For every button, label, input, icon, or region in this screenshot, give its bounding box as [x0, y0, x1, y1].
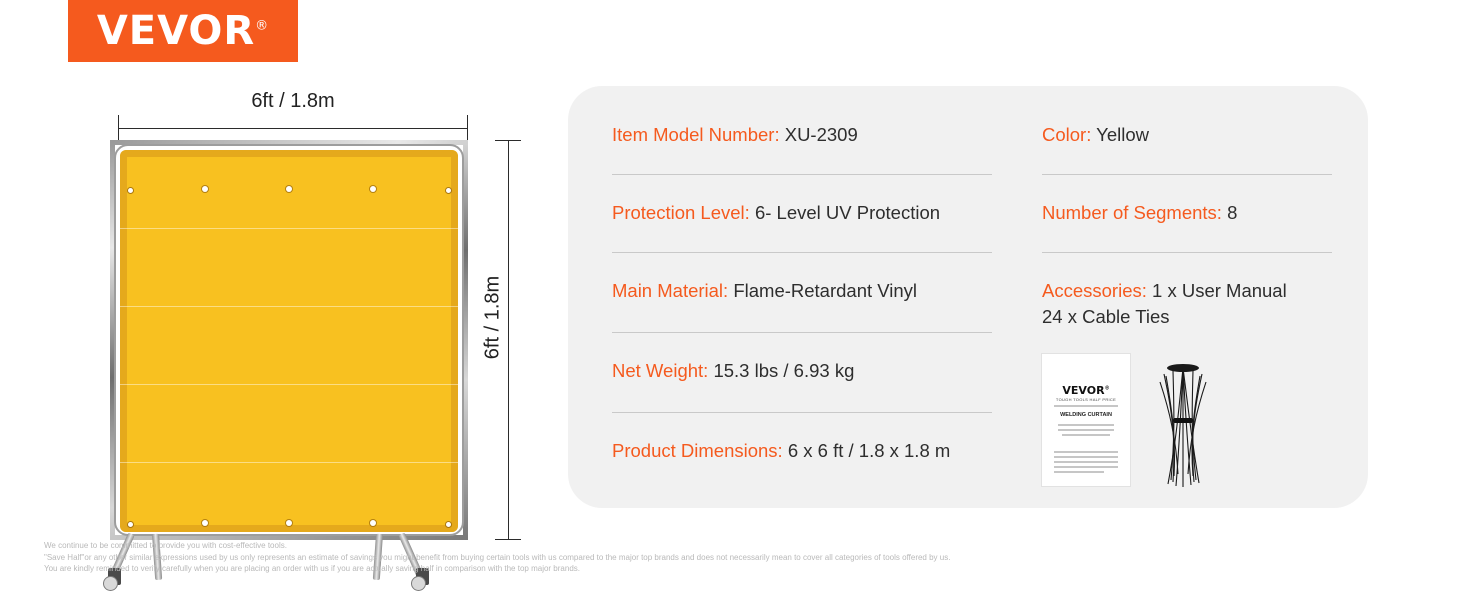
spec-text: Product Dimensions: 6 x 6 ft / 1.8 x 1.8… — [612, 438, 992, 464]
vevor-logo: VEVOR® — [68, 0, 298, 62]
spec-value: Yellow — [1096, 124, 1149, 145]
spec-divider — [612, 412, 992, 413]
registered-trademark-icon: ® — [255, 19, 269, 34]
manual-title: WELDING CURTAIN — [1042, 412, 1130, 418]
spec-label: Color: — [1042, 124, 1091, 145]
spec-text: Color: Yellow — [1042, 122, 1332, 148]
logo-wordmark: VEVOR® — [97, 11, 269, 51]
disclaimer-line-3: You are kindly reminded to verify carefu… — [44, 563, 1164, 575]
manual-text-line — [1054, 451, 1118, 453]
product-illustration: 6ft / 1.8m 6ft / 1.8m — [80, 82, 510, 532]
spec-text: Net Weight: 15.3 lbs / 6.93 kg — [612, 358, 992, 384]
spec-row: Product Dimensions: 6 x 6 ft / 1.8 x 1.8… — [612, 438, 992, 464]
spec-label: Item Model Number: — [612, 124, 780, 145]
spec-label: Accessories: — [1042, 280, 1147, 301]
manual-registered-icon: ® — [1105, 385, 1110, 391]
spec-value: 1 x User Manual — [1152, 280, 1287, 301]
height-tick-top — [495, 140, 521, 141]
spec-label: Number of Segments: — [1042, 202, 1222, 223]
manual-text-line — [1054, 405, 1118, 407]
grommet — [202, 520, 208, 526]
spec-row: Item Model Number: XU-2309 — [612, 122, 992, 148]
spec-value: 6- Level UV Protection — [755, 202, 940, 223]
manual-text-line — [1054, 466, 1118, 468]
curtain-seam — [120, 462, 458, 463]
grommet — [202, 186, 208, 192]
user-manual-thumbnail: VEVOR® TOUGH TOOLS HALF PRICE WELDING CU… — [1042, 354, 1130, 486]
spec-text: Number of Segments: 8 — [1042, 200, 1332, 226]
welding-curtain-panel — [120, 150, 458, 532]
manual-tagline: TOUGH TOOLS HALF PRICE — [1042, 397, 1130, 402]
manual-text-line — [1062, 434, 1110, 436]
spec-row: Net Weight: 15.3 lbs / 6.93 kg — [612, 358, 992, 384]
width-dimension-label: 6ft / 1.8m — [118, 90, 468, 113]
height-dimension-line — [508, 140, 509, 540]
specification-panel: Item Model Number: XU-2309 Protection Le… — [568, 86, 1368, 508]
spec-label: Product Dimensions: — [612, 440, 783, 461]
width-tick-right — [467, 115, 468, 141]
width-dimension-line — [118, 128, 468, 129]
manual-brand-text: VEVOR® — [1042, 384, 1130, 397]
accessory-thumbnails: VEVOR® TOUGH TOOLS HALF PRICE WELDING CU… — [1042, 354, 1262, 504]
spec-text: Main Material: Flame-Retardant Vinyl — [612, 278, 992, 304]
spec-divider — [1042, 174, 1332, 175]
spec-text: Item Model Number: XU-2309 — [612, 122, 992, 148]
spec-divider — [612, 174, 992, 175]
spec-label: Net Weight: — [612, 360, 708, 381]
manual-text-line — [1058, 424, 1114, 426]
disclaimer-line-1: We continue to be committed to provide y… — [44, 540, 1164, 552]
width-dimension: 6ft / 1.8m — [118, 90, 468, 136]
manual-text-line — [1054, 456, 1118, 458]
grommet — [286, 186, 292, 192]
grommet — [128, 188, 133, 193]
spec-divider — [1042, 252, 1332, 253]
spec-value: 8 — [1227, 202, 1237, 223]
spec-text: Protection Level: 6- Level UV Protection — [612, 200, 992, 226]
grommet — [286, 520, 292, 526]
spec-text: Accessories: 1 x User Manual — [1042, 278, 1332, 304]
spec-value: XU-2309 — [785, 124, 858, 145]
spec-divider — [612, 252, 992, 253]
grommet — [128, 522, 133, 527]
spec-row: Protection Level: 6- Level UV Protection — [612, 200, 992, 226]
spec-row: Main Material: Flame-Retardant Vinyl — [612, 278, 992, 304]
spec-value-line2: 24 x Cable Ties — [1042, 304, 1332, 330]
spec-row: Number of Segments: 8 — [1042, 200, 1332, 226]
spec-row: Accessories: 1 x User Manual 24 x Cable … — [1042, 278, 1332, 330]
width-tick-left — [118, 115, 119, 141]
spec-divider — [612, 332, 992, 333]
cable-ties-icon — [1146, 356, 1220, 490]
curtain-seam — [120, 228, 458, 229]
spec-value: 15.3 lbs / 6.93 kg — [713, 360, 854, 381]
disclaimer-line-2: "Save Half"or any other similar expressi… — [44, 552, 1164, 564]
height-dimension: 6ft / 1.8m — [470, 140, 516, 540]
logo-brand-text: VEVOR — [97, 8, 255, 54]
curtain-seam — [120, 306, 458, 307]
grommet — [446, 188, 451, 193]
grommet — [370, 186, 376, 192]
spec-label: Protection Level: — [612, 202, 750, 223]
spec-row: Color: Yellow — [1042, 122, 1332, 148]
spec-value: 6 x 6 ft / 1.8 x 1.8 m — [788, 440, 950, 461]
manual-text-line — [1054, 461, 1118, 463]
manual-text-line — [1054, 471, 1104, 473]
manual-text-line — [1058, 429, 1114, 431]
height-dimension-label: 6ft / 1.8m — [482, 273, 505, 363]
curtain-seam — [120, 384, 458, 385]
grommet — [370, 520, 376, 526]
spec-value: Flame-Retardant Vinyl — [733, 280, 917, 301]
spec-label: Main Material: — [612, 280, 728, 301]
manual-brand-name: VEVOR — [1062, 384, 1104, 397]
grommet — [446, 522, 451, 527]
disclaimer: We continue to be committed to provide y… — [44, 540, 1164, 575]
